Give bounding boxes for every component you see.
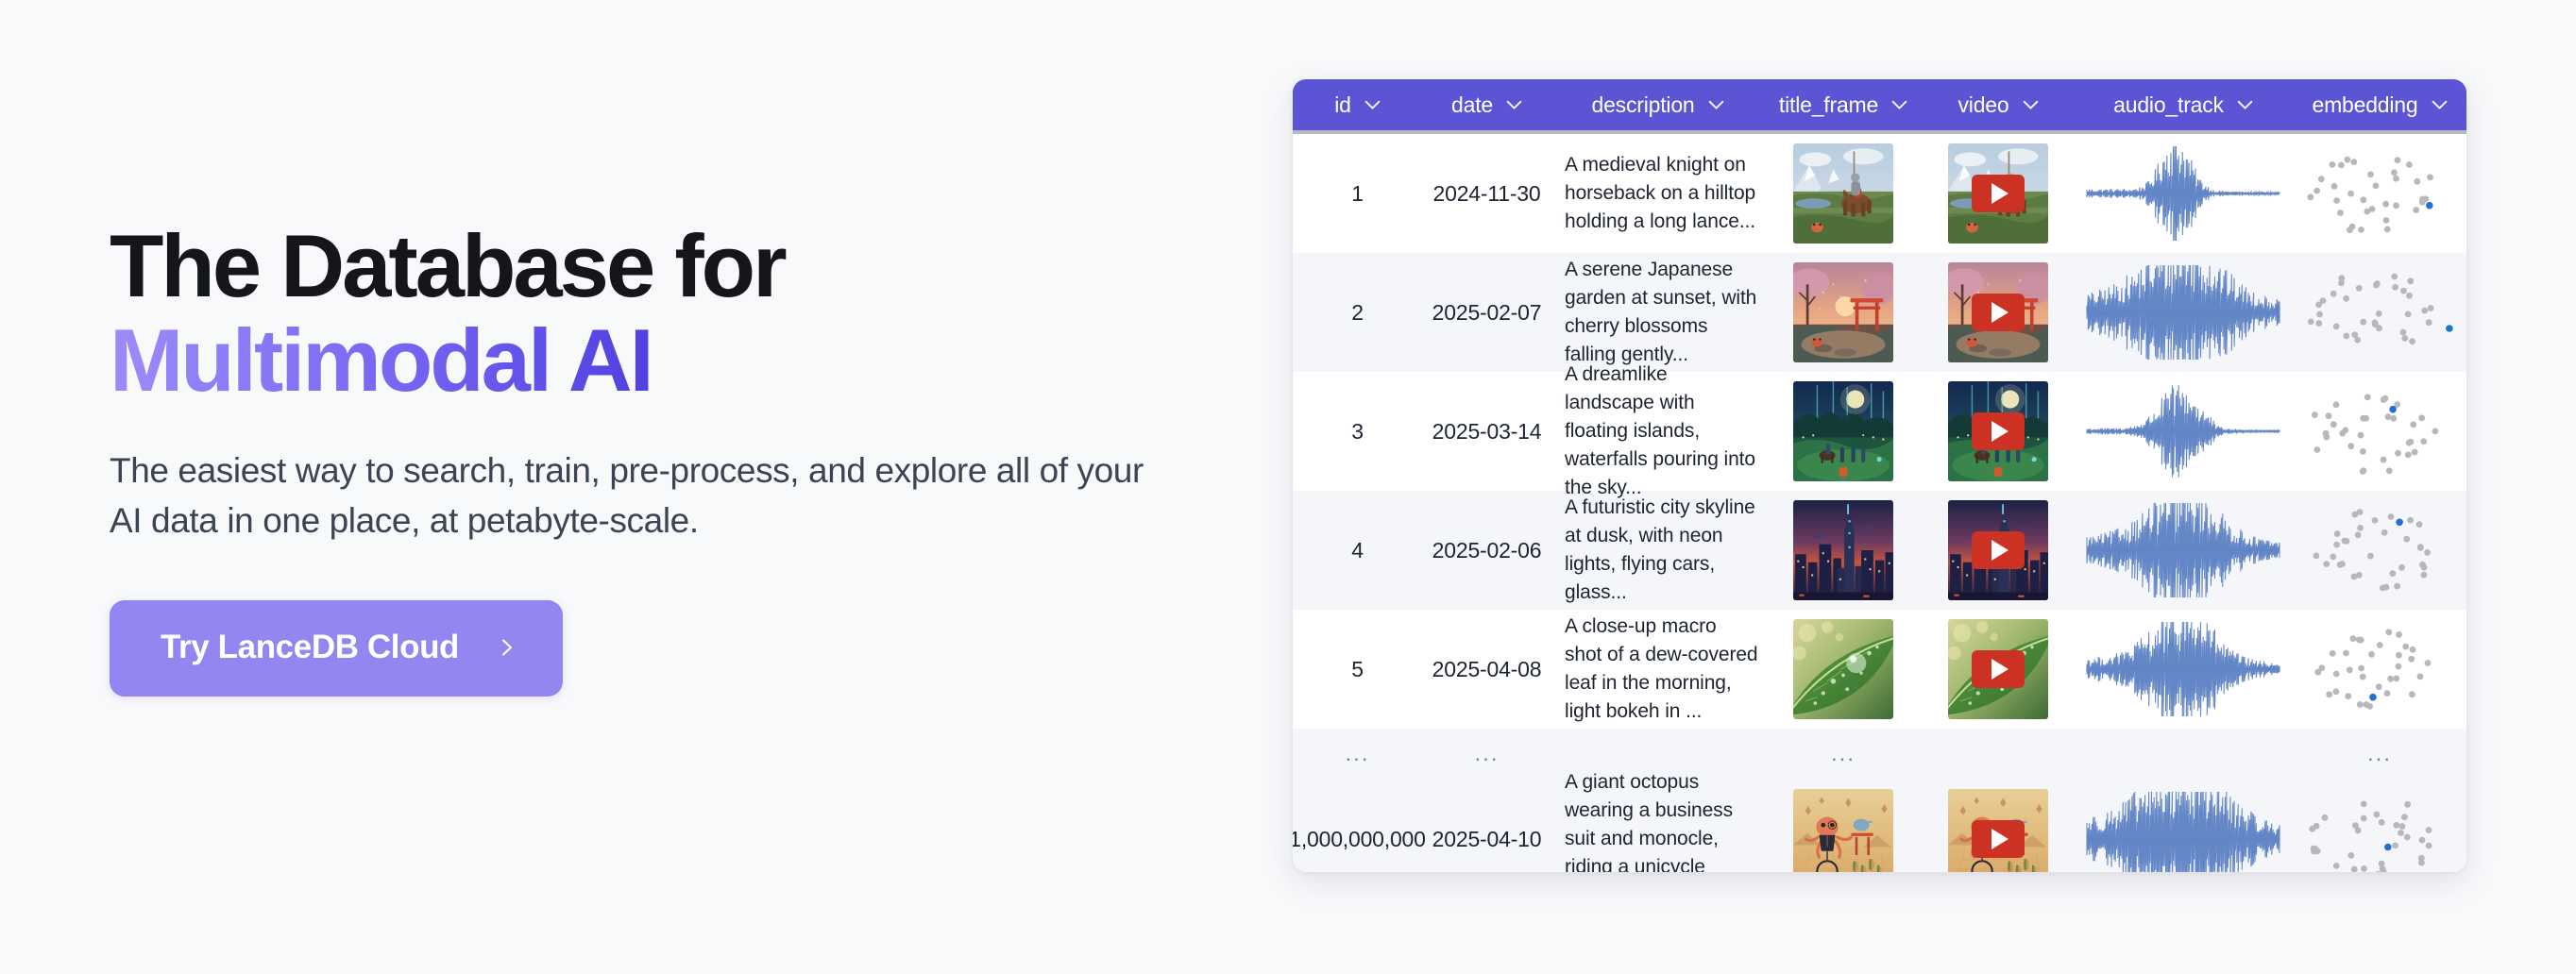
headline-line-1: The Database for [110,216,785,315]
cell-id: 1 [1293,134,1422,253]
cell-description: A close-up macro shot of a dew-covered l… [1551,610,1764,729]
play-button-icon[interactable] [1972,531,2025,569]
cell-description: A giant octopus wearing a business suit … [1551,780,1764,872]
ellipsis-text: ... [1474,743,1499,765]
cell-title-frame[interactable] [1764,253,1923,372]
description-value: A medieval knight on horseback on a hill… [1565,151,1758,235]
cell-video[interactable] [1923,491,2074,610]
cell-embedding[interactable] [2293,372,2466,491]
audio-waveform-3[interactable] [2081,382,2285,480]
cell-video[interactable] [1923,134,2074,253]
table-row[interactable]: 22025-02-07A serene Japanese garden at s… [1293,253,2466,372]
cell-title-frame[interactable] [1764,134,1923,253]
table-header-row: id date description title_frame [1293,79,2466,134]
column-header-description[interactable]: description [1551,79,1764,130]
table-row[interactable]: 12024-11-30A medieval knight on horsebac… [1293,134,2466,253]
embedding-scatter-1[interactable] [2296,143,2463,243]
cell-embedding[interactable] [2293,610,2466,729]
cell-date: 2025-02-06 [1422,491,1551,610]
cell-date: 2025-02-07 [1422,253,1551,372]
id-value: 3 [1351,419,1364,445]
cell-audio-track[interactable] [2074,134,2293,253]
ellipsis-title-frame: ... [1764,729,1923,780]
cell-date: 2025-04-08 [1422,610,1551,729]
cell-audio-track[interactable] [2074,780,2293,872]
cell-id: 1,000,000,000 [1293,780,1422,872]
chevron-right-icon [497,637,517,658]
embedding-scatter-5[interactable] [2296,619,2463,719]
headline-line-2: Multimodal AI [110,313,652,408]
date-value: 2024-11-30 [1433,181,1541,207]
cell-description: A medieval knight on horseback on a hill… [1551,134,1764,253]
column-header-label: description [1591,92,1694,118]
description-value: A close-up macro shot of a dew-covered l… [1565,613,1758,725]
column-header-label: audio_track [2113,92,2224,118]
column-header-embedding[interactable]: embedding [2293,79,2466,130]
date-value: 2025-02-06 [1432,538,1542,563]
cell-audio-track[interactable] [2074,491,2293,610]
octopus-unicycle-thumbnail[interactable] [1793,789,1893,872]
embedding-scatter-3[interactable] [2296,381,2463,481]
play-button-icon[interactable] [1972,294,2025,331]
chevron-down-icon[interactable] [2237,100,2253,110]
id-value: 5 [1351,657,1364,682]
date-value: 2025-04-10 [1432,827,1542,852]
cell-description: A futuristic city skyline at dusk, with … [1551,491,1764,610]
ellipsis-embedding: ... [2293,729,2466,780]
play-button-icon[interactable] [1972,175,2025,212]
dreamlike-landscape-video[interactable] [1948,381,2048,481]
id-value: 1,000,000,000 [1293,827,1426,852]
cell-title-frame[interactable] [1764,491,1923,610]
table-body: 12024-11-30A medieval knight on horsebac… [1293,134,2466,872]
column-header-title-frame[interactable]: title_frame [1764,79,1923,130]
play-button-icon[interactable] [1972,820,2025,858]
chevron-down-icon[interactable] [2023,100,2039,110]
embedding-scatter-2[interactable] [2296,262,2463,362]
column-header-label: id [1334,92,1351,118]
chevron-down-icon[interactable] [1364,100,1381,110]
try-lancedb-cloud-button[interactable]: Try LanceDB Cloud [110,600,563,697]
chevron-down-icon[interactable] [1506,100,1522,110]
date-value: 2025-03-14 [1432,419,1542,445]
cell-video[interactable] [1923,253,2074,372]
column-header-video[interactable]: video [1923,79,2074,130]
dew-covered-leaf-thumbnail[interactable] [1793,619,1893,719]
cell-id: 3 [1293,372,1422,491]
column-header-date[interactable]: date [1422,79,1551,130]
data-table-card: id date description title_frame [1293,79,2466,872]
audio-waveform-6[interactable] [2081,790,2285,872]
date-value: 2025-04-08 [1432,657,1542,682]
description-value: A dreamlike landscape with floating isla… [1565,361,1758,501]
description-value: A futuristic city skyline at dusk, with … [1565,494,1758,606]
chevron-down-icon[interactable] [1708,100,1724,110]
japanese-garden-video[interactable] [1948,262,2048,362]
ellipsis-text: ... [1831,743,1856,765]
play-button-icon[interactable] [1972,412,2025,450]
cell-audio-track[interactable] [2074,372,2293,491]
description-value: A giant octopus wearing a business suit … [1565,768,1758,872]
cell-description: A dreamlike landscape with floating isla… [1551,372,1764,491]
column-header-label: embedding [2312,92,2417,118]
audio-waveform-1[interactable] [2081,144,2285,243]
dew-covered-leaf-video[interactable] [1948,619,2048,719]
table-row-ellipsis: ............ [1293,729,2466,780]
futuristic-city-thumbnail[interactable] [1793,500,1893,600]
column-header-id[interactable]: id [1293,79,1422,130]
table-row[interactable]: 32025-03-14A dreamlike landscape with fl… [1293,372,2466,491]
chevron-down-icon[interactable] [1891,100,1907,110]
ellipsis-audio-track [2074,729,2293,780]
page-title: The Database for Multimodal AI [110,219,1224,407]
cell-video[interactable] [1923,780,2074,872]
column-header-label: video [1958,92,2009,118]
cell-embedding[interactable] [2293,253,2466,372]
cell-title-frame[interactable] [1764,610,1923,729]
cell-date: 2025-03-14 [1422,372,1551,491]
cell-audio-track[interactable] [2074,253,2293,372]
cell-audio-track[interactable] [2074,610,2293,729]
ellipsis-video [1923,729,2074,780]
description-value: A serene Japanese garden at sunset, with… [1565,256,1758,368]
cell-title-frame[interactable] [1764,780,1923,872]
column-header-audio-track[interactable]: audio_track [2074,79,2293,130]
chevron-down-icon[interactable] [2432,100,2448,110]
landing-page: The Database for Multimodal AI The easie… [0,0,2576,974]
cell-description: A serene Japanese garden at sunset, with… [1551,253,1764,372]
cell-video[interactable] [1923,372,2074,491]
octopus-unicycle-video[interactable] [1948,789,2048,872]
cell-id: 5 [1293,610,1422,729]
id-value: 2 [1351,300,1364,326]
cell-title-frame[interactable] [1764,372,1923,491]
audio-waveform-4[interactable] [2081,501,2285,599]
table-row[interactable]: 52025-04-08A close-up macro shot of a de… [1293,610,2466,729]
play-button-icon[interactable] [1972,650,2025,688]
cell-id: 4 [1293,491,1422,610]
column-header-label: title_frame [1779,92,1878,118]
dreamlike-landscape-thumbnail[interactable] [1793,381,1893,481]
hero-subheadline: The easiest way to search, train, pre-pr… [110,446,1181,546]
ellipsis-date: ... [1422,729,1551,780]
cell-embedding[interactable] [2293,134,2466,253]
column-header-label: date [1451,92,1493,118]
id-value: 1 [1351,181,1364,207]
ellipsis-id: ... [1293,729,1422,780]
knight-on-horseback-video[interactable] [1948,143,2048,243]
japanese-garden-thumbnail[interactable] [1793,262,1893,362]
ellipsis-text: ... [2367,743,2392,765]
table-row[interactable]: 42025-02-06A futuristic city skyline at … [1293,491,2466,610]
cell-id: 2 [1293,253,1422,372]
cell-video[interactable] [1923,610,2074,729]
futuristic-city-video[interactable] [1948,500,2048,600]
cell-date: 2024-11-30 [1422,134,1551,253]
embedding-scatter-4[interactable] [2296,500,2463,600]
table-row[interactable]: 1,000,000,0002025-04-10A giant octopus w… [1293,780,2466,872]
knight-on-horseback-thumbnail[interactable] [1793,143,1893,243]
cell-date: 2025-04-10 [1422,780,1551,872]
embedding-scatter-6[interactable] [2296,789,2463,872]
date-value: 2025-02-07 [1432,300,1542,326]
cta-label: Try LanceDB Cloud [161,629,459,666]
cell-embedding[interactable] [2293,780,2466,872]
id-value: 4 [1351,538,1364,563]
cell-embedding[interactable] [2293,491,2466,610]
hero-section: The Database for Multimodal AI The easie… [110,219,1224,697]
ellipsis-text: ... [1345,743,1369,765]
audio-waveform-2[interactable] [2081,263,2285,361]
audio-waveform-5[interactable] [2081,620,2285,718]
